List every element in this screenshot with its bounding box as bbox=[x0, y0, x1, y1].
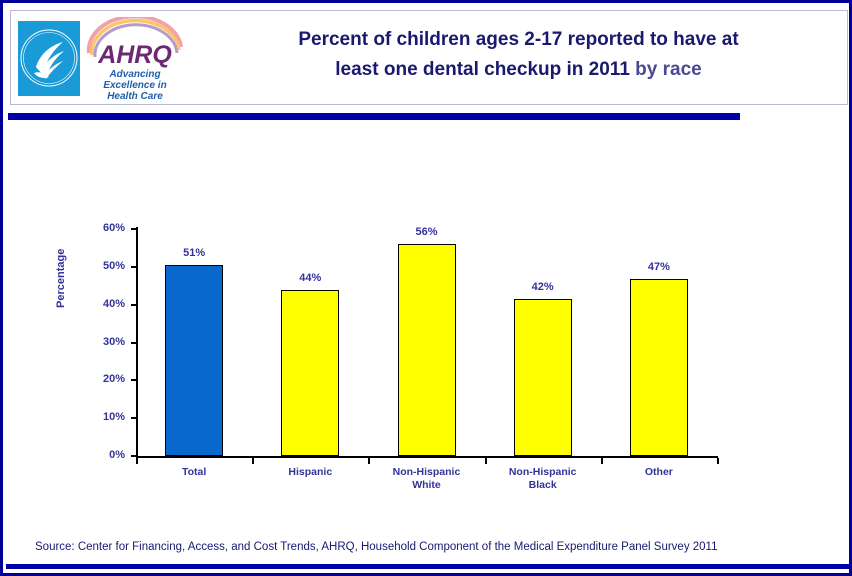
x-axis-category-label: Total bbox=[136, 466, 252, 479]
y-axis-tick bbox=[131, 417, 137, 419]
page-title: Percent of children ages 2-17 reported t… bbox=[196, 25, 841, 85]
x-axis-tick bbox=[717, 458, 719, 464]
title-line-1: Percent of children ages 2-17 reported t… bbox=[196, 25, 841, 55]
y-axis-tick bbox=[131, 379, 137, 381]
x-axis-category-label-line: White bbox=[368, 479, 484, 492]
x-axis-category-label-line: Other bbox=[601, 466, 717, 479]
y-axis-tick bbox=[131, 228, 137, 230]
footer-divider-rule bbox=[6, 564, 852, 569]
bar[interactable] bbox=[514, 299, 572, 456]
header-divider-rule bbox=[8, 113, 740, 120]
y-axis-tick bbox=[131, 342, 137, 344]
y-axis-tick-label: 30% bbox=[79, 336, 125, 348]
bar-value-label: 42% bbox=[494, 281, 592, 293]
hhs-seal-icon bbox=[18, 21, 80, 96]
y-axis-tick bbox=[131, 266, 137, 268]
y-axis-tick-label: 20% bbox=[79, 373, 125, 385]
x-axis-category-label-line: Total bbox=[136, 466, 252, 479]
bar[interactable] bbox=[165, 265, 223, 456]
svg-text:Excellence in: Excellence in bbox=[103, 80, 166, 91]
x-axis-tick bbox=[601, 458, 603, 464]
x-axis-category-label-line: Non-Hispanic bbox=[368, 466, 484, 479]
ahrq-logo-icon: AHRQ Advancing Excellence in Health Care bbox=[83, 17, 187, 103]
bar-chart: Percentage 0%10%20%30%40%50%60% 51%44%56… bbox=[3, 123, 852, 513]
title-line-2-main: least one dental checkup in 2011 bbox=[335, 59, 630, 80]
svg-text:AHRQ: AHRQ bbox=[97, 41, 172, 69]
x-axis-category-label-line: Black bbox=[485, 479, 601, 492]
title-line-2-qualifier: by race bbox=[635, 59, 702, 80]
header-panel: AHRQ Advancing Excellence in Health Care… bbox=[10, 10, 848, 105]
x-axis-tick bbox=[485, 458, 487, 464]
x-axis-tick bbox=[368, 458, 370, 464]
y-axis-tick-label: 40% bbox=[79, 298, 125, 310]
y-axis-tick-label: 50% bbox=[79, 260, 125, 272]
logo-block: AHRQ Advancing Excellence in Health Care bbox=[15, 15, 190, 101]
y-axis-title: Percentage bbox=[55, 249, 67, 308]
x-axis-line bbox=[136, 456, 718, 458]
bar[interactable] bbox=[398, 244, 456, 456]
x-axis-category-label: Non-HispanicBlack bbox=[485, 466, 601, 492]
svg-text:Advancing: Advancing bbox=[108, 69, 160, 80]
x-axis-category-label: Other bbox=[601, 466, 717, 479]
bar[interactable] bbox=[630, 279, 688, 456]
bar-value-label: 44% bbox=[261, 272, 359, 284]
bar-value-label: 56% bbox=[378, 226, 476, 238]
source-note: Source: Center for Financing, Access, an… bbox=[35, 541, 718, 553]
y-axis-tick bbox=[131, 304, 137, 306]
x-axis-tick bbox=[252, 458, 254, 464]
svg-text:Health Care: Health Care bbox=[107, 91, 163, 102]
bar[interactable] bbox=[281, 290, 339, 456]
y-axis-tick-label: 0% bbox=[79, 449, 125, 461]
y-axis-tick-label: 10% bbox=[79, 411, 125, 423]
slide-page: AHRQ Advancing Excellence in Health Care… bbox=[0, 0, 852, 576]
x-axis-category-label: Hispanic bbox=[252, 466, 368, 479]
x-axis-category-label-line: Hispanic bbox=[252, 466, 368, 479]
x-axis-category-label: Non-HispanicWhite bbox=[368, 466, 484, 492]
x-axis-category-label-line: Non-Hispanic bbox=[485, 466, 601, 479]
y-axis-tick bbox=[131, 455, 137, 457]
y-axis-tick-label: 60% bbox=[79, 222, 125, 234]
title-line-2: least one dental checkup in 2011 by race bbox=[196, 55, 841, 85]
bar-value-label: 51% bbox=[145, 247, 243, 259]
x-axis-tick bbox=[136, 458, 138, 464]
bar-value-label: 47% bbox=[610, 261, 708, 273]
